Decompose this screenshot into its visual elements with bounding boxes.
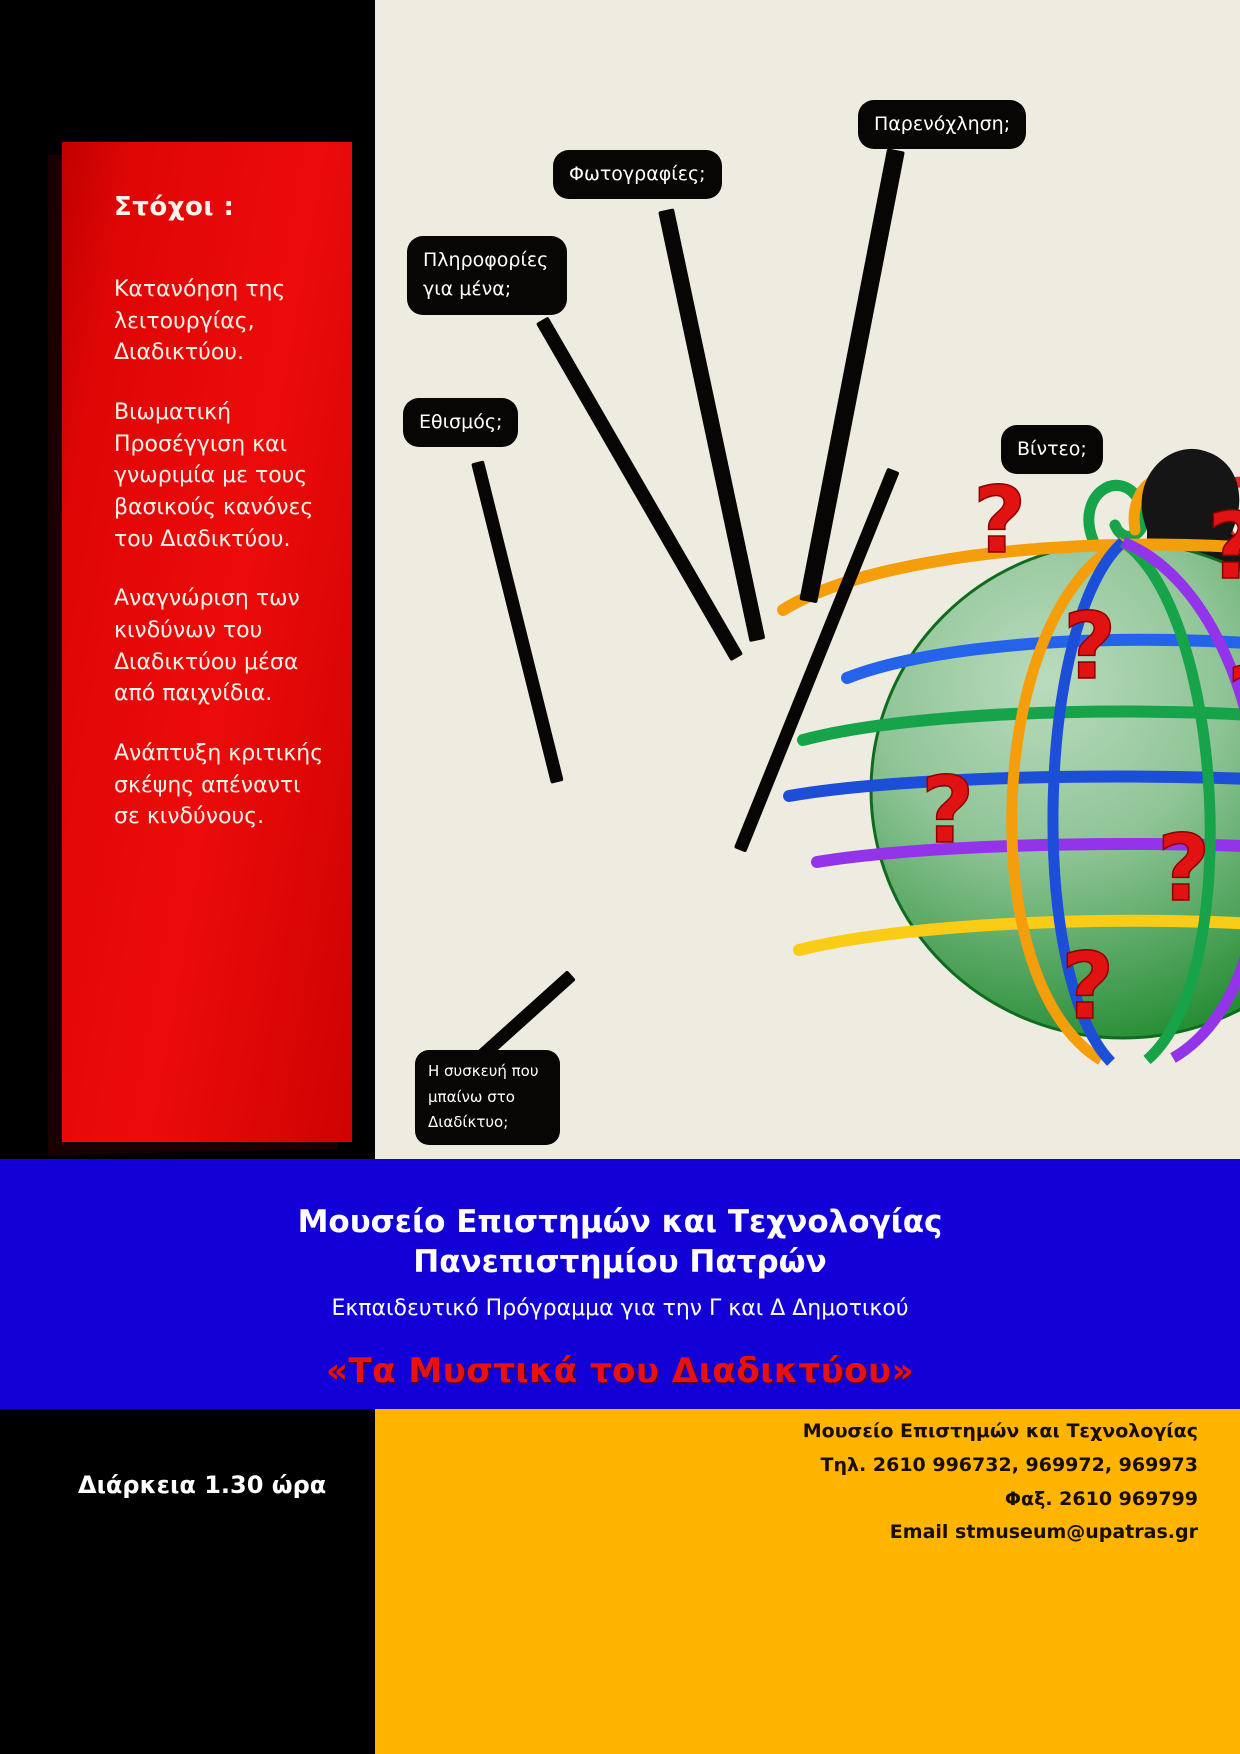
callout-device[interactable]: Η συσκευή που μπαίνω στο Διαδίκτυο; <box>415 1050 560 1145</box>
callout-harassment[interactable]: Παρενόχληση; <box>858 100 1026 149</box>
callout-addiction[interactable]: Εθισμός; <box>403 398 518 447</box>
svg-text:?: ? <box>1207 493 1240 600</box>
svg-text:?: ? <box>1157 815 1210 922</box>
contact-email: Email stmuseum@upatras.gr <box>375 1516 1198 1550</box>
callout-personal-info[interactable]: Πληροφορίες για μένα; <box>407 236 567 315</box>
illustration-panel: ? ? ? ? ? ? ? Παρενόχληση; Φωτογραφίες; … <box>375 0 1240 1159</box>
objective-item: Αναγνώριση των κινδύνων του Διαδικτύου μ… <box>114 583 326 710</box>
duration-text: Διάρκεια 1.30 ώρα <box>78 1471 326 1499</box>
program-subtitle: Εκπαιδευτικό Πρόγραμμα για την Γ και Δ Δ… <box>0 1296 1240 1321</box>
pointer-personal-info <box>536 317 743 662</box>
objectives-panel: Στόχοι : Κατανόηση της λειτουργίας, Διαδ… <box>62 142 352 1142</box>
contact-line: Φαξ. 2610 969799 <box>375 1483 1198 1517</box>
objective-item: Βιωματική Προσέγγιση και γνωριμία με του… <box>114 397 326 555</box>
pointer-addiction <box>471 460 563 783</box>
organization-line-2: Πανεπιστημίου Πατρών <box>0 1243 1240 1283</box>
program-title: «Τα Μυστικά του Διαδικτύου» <box>0 1351 1240 1391</box>
contact-line: Τηλ. 2610 996732, 969972, 969973 <box>375 1449 1198 1483</box>
svg-text:?: ? <box>973 467 1026 574</box>
objective-item: Ανάπτυξη κριτικής σκέψης απέναντι σε κιν… <box>114 738 326 833</box>
organization-line-1: Μουσείο Επιστημών και Τεχνολογίας <box>0 1203 1240 1243</box>
svg-text:?: ? <box>1227 647 1240 754</box>
pointer-photos <box>658 208 765 642</box>
duration-panel <box>0 1409 375 1754</box>
objectives-list: Κατανόηση της λειτουργίας, Διαδικτύου. Β… <box>114 274 326 833</box>
objective-item: Κατανόηση της λειτουργίας, Διαδικτύου. <box>114 274 326 369</box>
poster-root: ? ? ? ? ? ? ? Παρενόχληση; Φωτογραφίες; … <box>0 0 1240 1754</box>
contact-panel: Μουσείο Επιστημών και Τεχνολογίας Τηλ. 2… <box>375 1409 1240 1754</box>
callout-photos[interactable]: Φωτογραφίες; <box>553 150 722 199</box>
callout-video[interactable]: Βίντεο; <box>1001 425 1103 474</box>
svg-text:?: ? <box>1063 593 1116 700</box>
globe-illustration: ? ? ? ? ? ? ? <box>775 410 1240 1090</box>
svg-text:?: ? <box>921 757 974 864</box>
contact-line: Μουσείο Επιστημών και Τεχνολογίας <box>375 1415 1198 1449</box>
footer-band: Μουσείο Επιστημών και Τεχνολογίας Πανεπι… <box>0 1159 1240 1409</box>
objectives-heading: Στόχοι : <box>114 192 326 222</box>
svg-text:?: ? <box>1061 933 1114 1040</box>
